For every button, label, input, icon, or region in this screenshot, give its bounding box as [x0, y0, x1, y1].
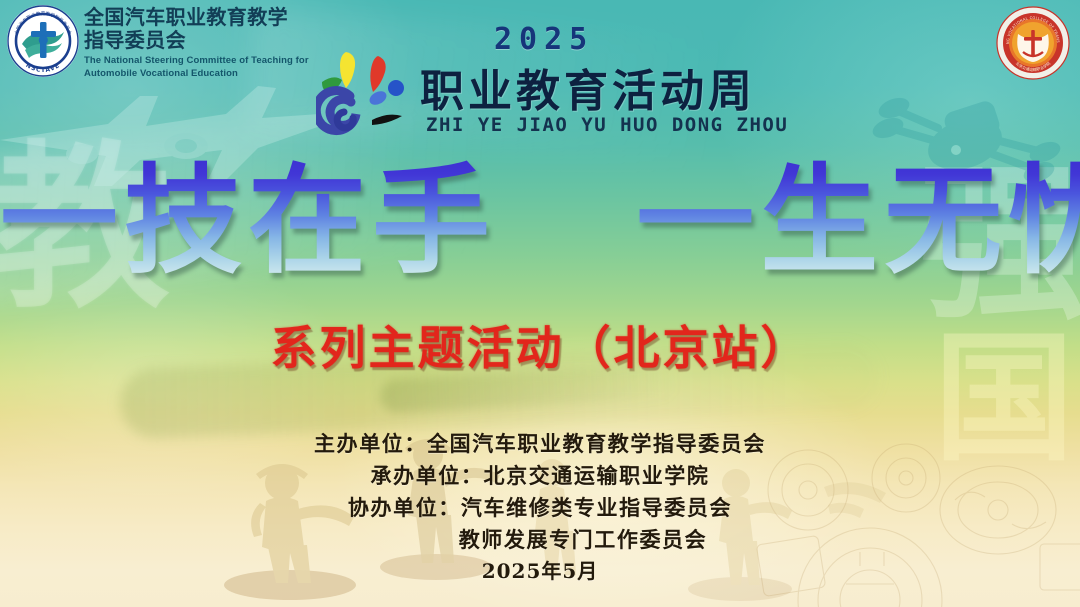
org-name-en: The National Steering Committee of Teach… [84, 55, 354, 80]
colorful-swirl-icon [316, 46, 424, 144]
beijing-vocational-college-of-transport-emblem: BEIJING VOCATIONAL COLLEGE OF TRANSPORT … [996, 6, 1070, 80]
event-logo: 2025 职业教育活动周 ZHI YE JIAO YU HUO DONG ZHO… [316, 22, 786, 147]
organizer-line-coorganizer: 协办单位：汽车维修类专业指导委员会 [0, 492, 1080, 524]
event-title-pinyin: ZHI YE JIAO YU HUO DONG ZHOU [426, 114, 788, 136]
organizer-line-undertaker: 承办单位：北京交通运输职业学院 [0, 460, 1080, 492]
slogan-part-1: 一技在手 [0, 152, 496, 290]
organizer-block: 主办单位：全国汽车职业教育教学指导委员会 承办单位：北京交通运输职业学院 协办单… [0, 428, 1080, 586]
org-name-cn: 全国汽车职业教育教学 指导委员会 [84, 6, 354, 52]
organizer-line-committee: 教师发展专门工作委员会 [0, 524, 1080, 556]
poster-canvas: 教 强 国 [0, 0, 1080, 607]
event-year: 2025 [494, 22, 594, 57]
org-header: 全国汽车职业教育教学 指导委员会 The National Steering C… [84, 6, 354, 80]
slogan-part-2: 一生无忧 [636, 152, 1080, 290]
nsctave-emblem: 全国汽车职业教育教学指导委员会 NSCTAVE [6, 4, 80, 78]
event-title-cn: 职业教育活动周 [420, 55, 756, 119]
organizer-date: 2025年5月 [0, 556, 1080, 586]
event-subtitle: 系列主题活动（北京站） [0, 312, 1080, 378]
organizer-line-host: 主办单位：全国汽车职业教育教学指导委员会 [0, 428, 1080, 460]
main-slogan: 一技在手 一生无忧 [0, 162, 1080, 280]
